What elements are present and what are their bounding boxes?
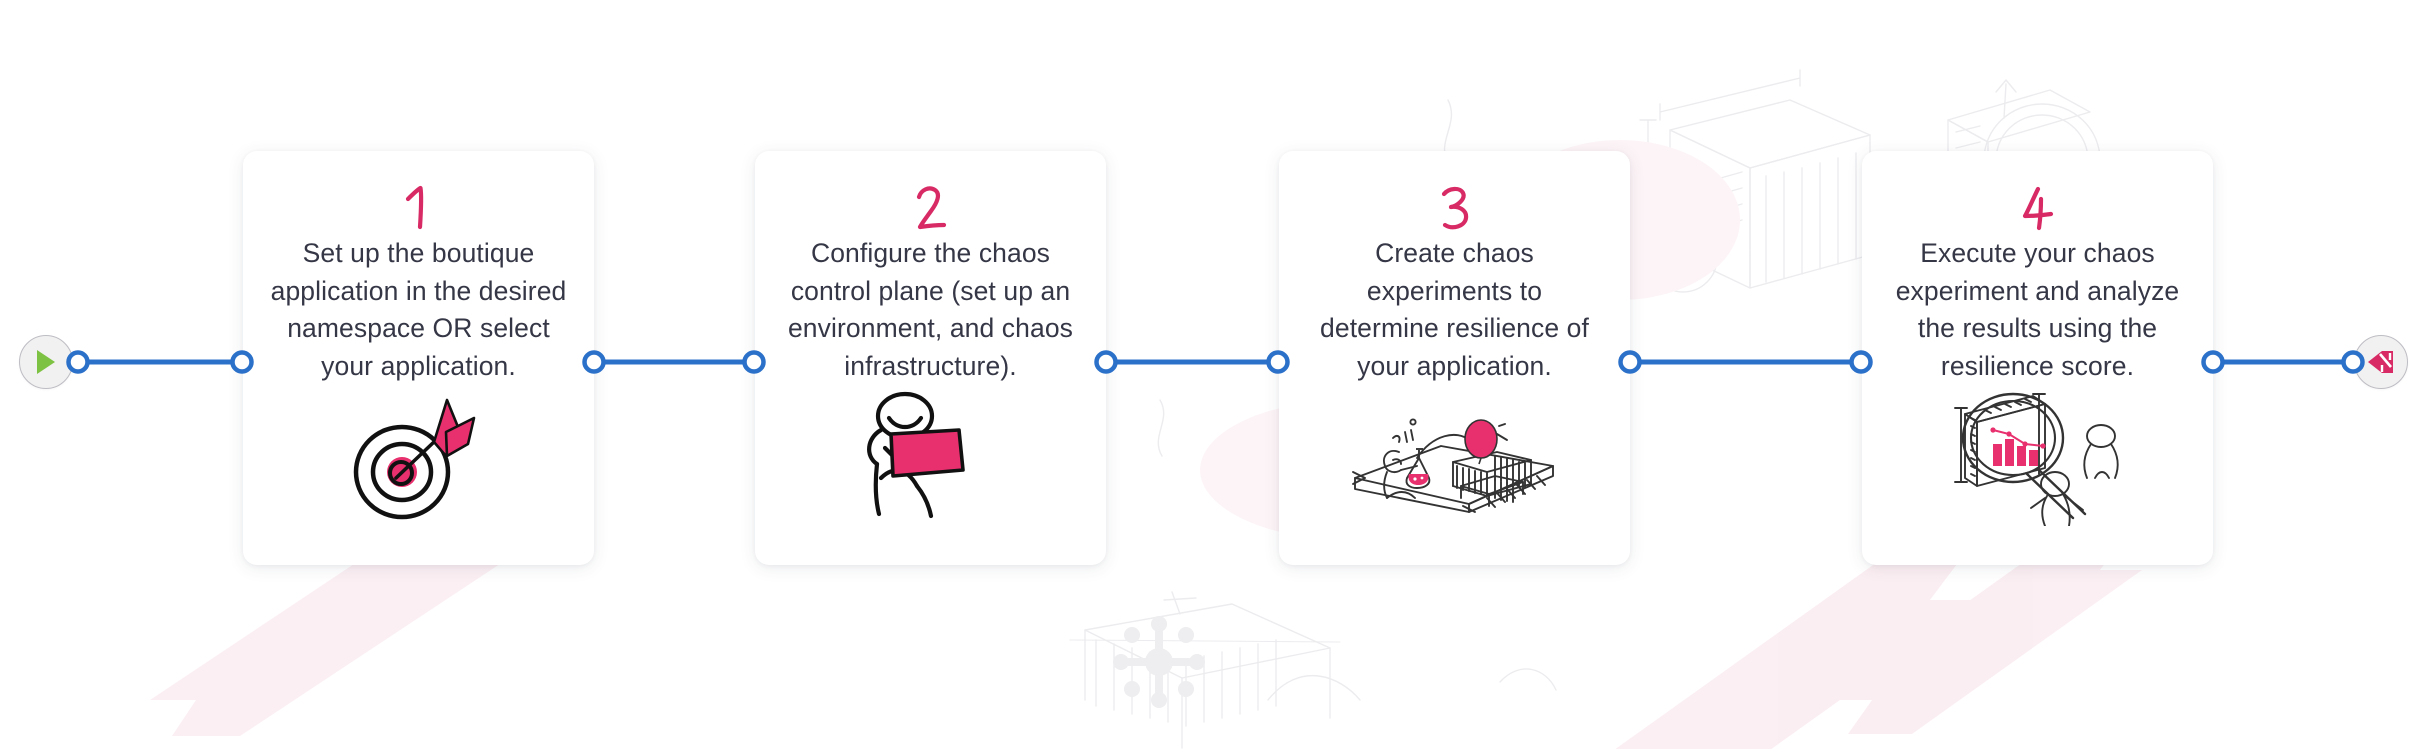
step-3-card[interactable]: Create chaos experiments to determine re…: [1279, 151, 1630, 565]
dartboard-with-arrow-illustration: [334, 386, 504, 526]
magnifier-over-chart-illustration: [1935, 386, 2140, 526]
play-triangle-icon: [33, 348, 59, 376]
step-number-1: [399, 185, 439, 231]
start-marker[interactable]: [19, 335, 73, 389]
step-4-card[interactable]: Execute your chaos experiment and analyz…: [1862, 151, 2213, 565]
step-3-text: Create chaos experiments to determine re…: [1305, 235, 1605, 386]
person-holding-board-illustration: [851, 386, 1011, 526]
step-1-card[interactable]: Set up the boutique application in the d…: [243, 151, 594, 565]
step-2-card[interactable]: Configure the chaos control plane (set u…: [755, 151, 1106, 565]
person-with-flask-on-platform-illustration: [1345, 394, 1565, 519]
end-marker[interactable]: [2354, 335, 2408, 389]
step-2-text: Configure the chaos control plane (set u…: [781, 235, 1081, 386]
litmus-chaos-logo-icon: [2366, 348, 2396, 376]
step-number-4: [2018, 185, 2058, 231]
step-3-illustration: [1345, 391, 1565, 521]
step-2-illustration: [851, 391, 1011, 521]
step-4-illustration: [1935, 391, 2140, 521]
workflow-diagram: Set up the boutique application in the d…: [0, 0, 2427, 749]
step-number-2: [911, 185, 951, 231]
step-1-text: Set up the boutique application in the d…: [269, 235, 569, 386]
step-1-illustration: [334, 391, 504, 521]
step-4-text: Execute your chaos experiment and analyz…: [1888, 235, 2188, 386]
step-number-3: [1435, 185, 1475, 231]
